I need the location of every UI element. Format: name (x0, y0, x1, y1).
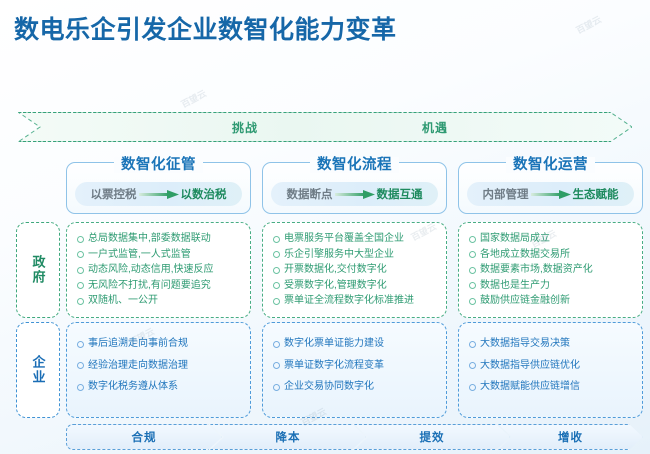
list-item-label: 大数据指导供应链优化 (480, 359, 580, 374)
list-item-label: 双随机、一公开 (88, 294, 158, 309)
list-item: 鼓励供应链金融创新 (469, 294, 634, 309)
list-item-label: 国家数据局成立 (480, 232, 550, 247)
arrow-right-icon (139, 190, 179, 199)
page-title: 数电乐企引发企业数智化能力变革 (14, 10, 397, 46)
pill-from-2: 数据断点 (287, 186, 333, 202)
circle-bullet-icon (469, 282, 476, 289)
column-title-text-2: 数智化流程 (310, 157, 399, 173)
circle-bullet-icon (273, 236, 280, 243)
bullet-list: 总局数据集中,部委数据联动 一户式监管,一人式监管 动态风险,动态信用,快速反应… (77, 232, 242, 309)
circle-bullet-icon (469, 298, 476, 305)
list-item-label: 经验治理走向数据治理 (88, 359, 188, 374)
pill-from-1: 以票控税 (91, 186, 137, 202)
list-item-label: 数据也是生产力 (480, 279, 550, 294)
list-item: 企业交易协同数字化 (273, 380, 438, 395)
bottom-step-2[interactable]: 降本 (210, 424, 366, 450)
circle-bullet-icon (77, 341, 84, 348)
circle-bullet-icon (273, 384, 280, 391)
list-item: 大数据赋能供应链增信 (469, 380, 634, 395)
circle-bullet-icon (77, 384, 84, 391)
bullet-list: 大数据指导交易决策 大数据指导供应链优化 大数据赋能供应链增信 (469, 337, 634, 395)
circle-bullet-icon (77, 267, 84, 274)
column-pill-1: 以票控税 以数治税 (75, 182, 242, 206)
list-item: 大数据指导交易决策 (469, 337, 634, 352)
bottom-step-3[interactable]: 提效 (354, 424, 510, 450)
circle-bullet-icon (273, 298, 280, 305)
circle-bullet-icon (469, 251, 476, 258)
circle-bullet-icon (469, 267, 476, 274)
cell-enterprise-col2: 数字化票单证能力建设 票单证数字化流程变革 企业交易协同数字化 (262, 322, 447, 418)
list-item-label: 动态风险,动态信用,快速反应 (88, 263, 214, 278)
list-item: 数字化票单证能力建设 (273, 337, 438, 352)
list-item-label: 票单证全流程数字化标准推进 (284, 294, 414, 309)
list-item: 受票数字化,管理数字化 (273, 279, 438, 294)
column-header-card-1[interactable]: 数智化征管 以票控税 以数治税 (66, 162, 251, 214)
list-item-label: 大数据指导交易决策 (480, 337, 570, 352)
list-item-label: 总局数据集中,部委数据联动 (88, 232, 211, 247)
column-title-text-3: 数智化运营 (506, 157, 595, 173)
list-item: 数字化税务遵从体系 (77, 380, 242, 395)
list-item: 国家数据局成立 (469, 232, 634, 247)
pill-to-2: 数据互通 (377, 186, 423, 202)
circle-bullet-icon (469, 341, 476, 348)
column-title-2: 数智化流程 (263, 153, 446, 174)
circle-bullet-icon (77, 236, 84, 243)
column-pill-2: 数据断点 数据互通 (271, 182, 438, 206)
band-label-challenge: 挑战 (232, 119, 258, 136)
bullet-list: 事后追溯走向事前合规 经验治理走向数据治理 数字化税务遵从体系 (77, 337, 242, 395)
list-item: 票单证数字化流程变革 (273, 359, 438, 374)
column-header-card-2[interactable]: 数智化流程 数据断点 数据互通 (262, 162, 447, 214)
circle-bullet-icon (77, 298, 84, 305)
watermark: 百望云 (179, 86, 209, 110)
row-label-government: 政府 (16, 222, 60, 318)
pill-from-3: 内部管理 (483, 186, 529, 202)
circle-bullet-icon (469, 362, 476, 369)
list-item: 一户式监管,一人式监管 (77, 248, 242, 263)
list-item-label: 乐企引擎服务中大型企业 (284, 248, 394, 263)
list-item: 开票数据化,交付数字化 (273, 263, 438, 278)
column-title-1: 数智化征管 (67, 153, 250, 174)
circle-bullet-icon (273, 251, 280, 258)
bullet-list: 数字化票单证能力建设 票单证数字化流程变革 企业交易协同数字化 (273, 337, 438, 395)
list-item-label: 无风险不打扰,有问题要追究 (88, 279, 211, 294)
list-item-label: 企业交易协同数字化 (284, 380, 374, 395)
circle-bullet-icon (273, 362, 280, 369)
row-label-enterprise-text: 企业 (29, 355, 48, 385)
list-item-label: 鼓励供应链金融创新 (480, 294, 570, 309)
bullet-list: 电票服务平台覆盖全国企业 乐企引擎服务中大型企业 开票数据化,交付数字化 受票数… (273, 232, 438, 309)
arrow-right-icon (531, 190, 571, 199)
circle-bullet-icon (77, 282, 84, 289)
row-label-enterprise: 企业 (16, 322, 60, 418)
cell-government-col2: 电票服务平台覆盖全国企业 乐企引擎服务中大型企业 开票数据化,交付数字化 受票数… (262, 222, 447, 318)
list-item: 数据要素市场,数据资产化 (469, 263, 634, 278)
list-item-label: 各地成立数据交易所 (480, 248, 570, 263)
list-item: 动态风险,动态信用,快速反应 (77, 263, 242, 278)
list-item: 数据也是生产力 (469, 279, 634, 294)
list-item: 双随机、一公开 (77, 294, 242, 309)
cell-enterprise-col3: 大数据指导交易决策 大数据指导供应链优化 大数据赋能供应链增信 (458, 322, 643, 418)
circle-bullet-icon (77, 362, 84, 369)
bottom-outcome-bar: 合规 降本 提效 增收 (66, 424, 643, 450)
column-title-text-1: 数智化征管 (114, 157, 203, 173)
bottom-step-1[interactable]: 合规 (66, 424, 222, 450)
list-item-label: 数据要素市场,数据资产化 (480, 263, 593, 278)
list-item-label: 票单证数字化流程变革 (284, 359, 384, 374)
pill-to-3: 生态赋能 (573, 186, 619, 202)
list-item: 电票服务平台覆盖全国企业 (273, 232, 438, 247)
cell-government-col3: 国家数据局成立 各地成立数据交易所 数据要素市场,数据资产化 数据也是生产力 鼓… (458, 222, 643, 318)
list-item-label: 电票服务平台覆盖全国企业 (284, 232, 404, 247)
cell-government-col1: 总局数据集中,部委数据联动 一户式监管,一人式监管 动态风险,动态信用,快速反应… (66, 222, 251, 318)
arrow-right-icon (335, 190, 375, 199)
cell-enterprise-col1: 事后追溯走向事前合规 经验治理走向数据治理 数字化税务遵从体系 (66, 322, 251, 418)
top-challenge-opportunity-band (18, 112, 632, 142)
circle-bullet-icon (469, 236, 476, 243)
column-title-3: 数智化运营 (459, 153, 642, 174)
list-item-label: 数字化票单证能力建设 (284, 337, 384, 352)
list-item: 无风险不打扰,有问题要追究 (77, 279, 242, 294)
circle-bullet-icon (273, 282, 280, 289)
list-item-label: 受票数字化,管理数字化 (284, 279, 387, 294)
list-item: 乐企引擎服务中大型企业 (273, 248, 438, 263)
list-item: 事后追溯走向事前合规 (77, 337, 242, 352)
circle-bullet-icon (469, 384, 476, 391)
list-item-label: 事后追溯走向事前合规 (88, 337, 188, 352)
row-label-government-text: 政府 (29, 255, 48, 285)
list-item-label: 数字化税务遵从体系 (88, 380, 178, 395)
bottom-step-4[interactable]: 增收 (498, 424, 643, 450)
list-item: 总局数据集中,部委数据联动 (77, 232, 242, 247)
list-item: 各地成立数据交易所 (469, 248, 634, 263)
watermark: 百望云 (574, 12, 604, 36)
column-header-card-3[interactable]: 数智化运营 内部管理 生态赋能 (458, 162, 643, 214)
pill-to-1: 以数治税 (181, 186, 227, 202)
list-item: 经验治理走向数据治理 (77, 359, 242, 374)
column-pill-3: 内部管理 生态赋能 (467, 182, 634, 206)
bullet-list: 国家数据局成立 各地成立数据交易所 数据要素市场,数据资产化 数据也是生产力 鼓… (469, 232, 634, 309)
circle-bullet-icon (77, 251, 84, 258)
list-item-label: 开票数据化,交付数字化 (284, 263, 387, 278)
circle-bullet-icon (273, 267, 280, 274)
list-item-label: 大数据赋能供应链增信 (480, 380, 580, 395)
band-label-opportunity: 机遇 (422, 119, 448, 136)
list-item: 大数据指导供应链优化 (469, 359, 634, 374)
list-item-label: 一户式监管,一人式监管 (88, 248, 191, 263)
list-item: 票单证全流程数字化标准推进 (273, 294, 438, 309)
circle-bullet-icon (273, 341, 280, 348)
